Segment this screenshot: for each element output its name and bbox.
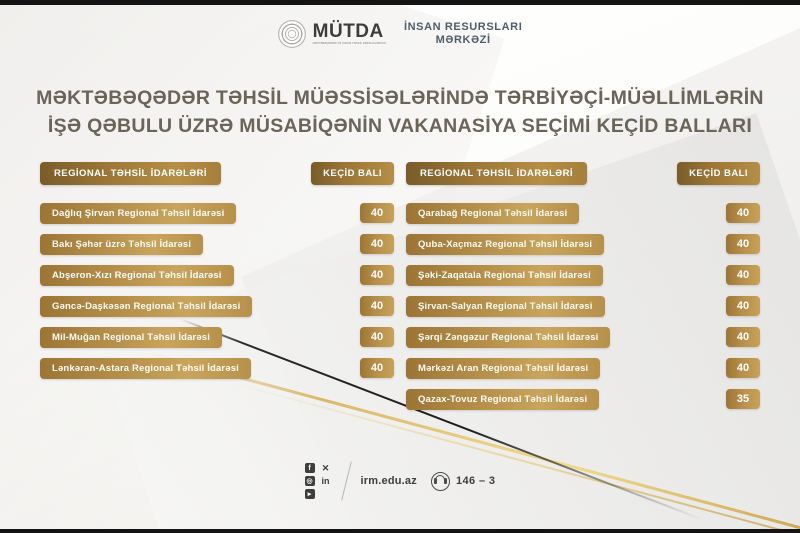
social-icons: f✕◎in▸ [305,463,332,500]
instagram-icon[interactable]: ◎ [305,476,315,486]
row-score-badge: 40 [726,358,760,378]
row-authority-name: Abşeron-Xızı Regional Təhsil İdarəsi [40,265,234,286]
headset-icon [431,472,450,491]
row-score-badge: 40 [360,296,394,316]
x-twitter-icon[interactable]: ✕ [321,463,331,473]
row-score-badge: 40 [726,265,760,285]
facebook-icon[interactable]: f [305,463,315,473]
row-authority-name: Mərkəzi Aran Regional Təhsil İdarəsi [406,358,600,379]
row-score-badge: 40 [726,296,760,316]
left-table-body: Dağlıq Şirvan Regional Təhsil İdarəsi40B… [40,202,394,379]
row-score-badge: 40 [360,327,394,347]
table-row: Qarabağ Regional Təhsil İdarəsi40 [406,202,760,224]
row-score-badge: 35 [726,389,760,409]
call-center-number: 146 – 3 [456,475,496,487]
top-letterbox-bar [0,0,800,5]
left-table-header-row: REGİONAL TƏHSİL İDARƏLƏRİ KEÇİD BALI [40,160,394,186]
bottom-letterbox-bar [0,529,800,533]
row-score-badge: 40 [726,234,760,254]
row-authority-name: Bakı Şəhər üzrə Təhsil İdarəsi [40,234,203,255]
table-row: Şərqi Zəngəzur Regional Təhsil İdarəsi40 [406,326,760,348]
row-score-badge: 40 [726,327,760,347]
footer-divider [341,461,352,500]
page-title-line2: İŞƏ QƏBULU ÜZRƏ MÜSABİQƏNİN VAKANASİYA S… [0,112,800,140]
row-score-badge: 40 [726,203,760,223]
mutda-logo-text: MÜTDA MƏKTƏBƏQƏDƏR VƏ ÜMUMİ TƏHSİL DƏRSL… [313,22,386,46]
mutda-logo-subtitle: MƏKTƏBƏQƏDƏR VƏ ÜMUMİ TƏHSİL DƏRSLİKLƏRİ… [313,43,386,46]
left-header-name: REGİONAL TƏHSİL İDARƏLƏRİ [40,162,221,185]
left-table: REGİONAL TƏHSİL İDARƏLƏRİ KEÇİD BALI Dağ… [40,160,394,419]
website-label[interactable]: irm.edu.az [361,475,417,487]
row-authority-name: Şirvan-Salyan Regional Təhsil İdarəsi [406,296,605,317]
row-authority-name: Şəki-Zaqatala Regional Təhsil İdarəsi [406,265,603,286]
table-row: Quba-Xaçmaz Regional Təhsil İdarəsi40 [406,233,760,255]
mutda-logo-name: MÜTDA [313,22,386,41]
poster-canvas: MÜTDA MƏKTƏBƏQƏDƏR VƏ ÜMUMİ TƏHSİL DƏRSL… [0,0,800,533]
right-table-body: Qarabağ Regional Təhsil İdarəsi40Quba-Xa… [406,202,760,410]
table-row: Mərkəzi Aran Regional Təhsil İdarəsi40 [406,357,760,379]
row-authority-name: Qazax-Tovuz Regional Təhsil İdarəsi [406,389,599,410]
row-authority-name: Lənkəran-Astara Regional Təhsil İdarəsi [40,358,251,379]
row-authority-name: Qarabağ Regional Təhsil İdarəsi [406,203,579,224]
page-title-line1: MƏKTƏBƏQƏDƏR TƏHSİL MÜƏSSİSƏLƏRİNDƏ TƏRB… [36,87,764,109]
page-title: MƏKTƏBƏQƏDƏR TƏHSİL MÜƏSSİSƏLƏRİNDƏ TƏRB… [0,84,800,141]
youtube-icon[interactable]: ▸ [305,489,315,499]
table-row: Gəncə-Daşkəsən Regional Təhsil İdarəsi40 [40,295,394,317]
table-row: Qazax-Tovuz Regional Təhsil İdarəsi35 [406,388,760,410]
mutda-logo: MÜTDA MƏKTƏBƏQƏDƏR VƏ ÜMUMİ TƏHSİL DƏRSL… [278,20,386,48]
row-authority-name: Şərqi Zəngəzur Regional Təhsil İdarəsi [406,327,610,348]
row-score-badge: 40 [360,265,394,285]
row-authority-name: Mil-Muğan Regional Təhsil İdarəsi [40,327,222,348]
table-row: Mil-Muğan Regional Təhsil İdarəsi40 [40,326,394,348]
right-table-header-row: REGİONAL TƏHSİL İDARƏLƏRİ KEÇİD BALI [406,160,760,186]
table-row: Şirvan-Salyan Regional Təhsil İdarəsi40 [406,295,760,317]
row-score-badge: 40 [360,234,394,254]
row-score-badge: 40 [360,203,394,223]
row-authority-name: Gəncə-Daşkəsən Regional Təhsil İdarəsi [40,296,252,317]
call-center-block: 146 – 3 [431,472,496,491]
right-table: REGİONAL TƏHSİL İDARƏLƏRİ KEÇİD BALI Qar… [406,160,760,419]
left-header-score: KEÇİD BALI [311,162,394,185]
table-row: Bakı Şəhər üzrə Təhsil İdarəsi40 [40,233,394,255]
right-header-name: REGİONAL TƏHSİL İDARƏLƏRİ [406,162,587,185]
table-row: Lənkəran-Astara Regional Təhsil İdarəsi4… [40,357,394,379]
tables-container: REGİONAL TƏHSİL İDARƏLƏRİ KEÇİD BALI Dağ… [0,160,800,419]
irm-logo: İNSAN RESURSLARI MƏRKƏZİ [404,21,522,46]
row-authority-name: Quba-Xaçmaz Regional Təhsil İdarəsi [406,234,604,255]
logo-bar: MÜTDA MƏKTƏBƏQƏDƏR VƏ ÜMUMİ TƏHSİL DƏRSL… [0,20,800,48]
linkedin-icon[interactable]: in [321,476,331,486]
headset-arc [435,475,445,481]
table-row: Abşeron-Xızı Regional Təhsil İdarəsi40 [40,264,394,286]
row-score-badge: 40 [360,358,394,378]
footer: f✕◎in▸ irm.edu.az 146 – 3 [0,461,800,501]
mandala-icon [278,20,306,48]
table-row: Dağlıq Şirvan Regional Təhsil İdarəsi40 [40,202,394,224]
row-authority-name: Dağlıq Şirvan Regional Təhsil İdarəsi [40,203,236,224]
irm-logo-line1: İNSAN RESURSLARI [404,21,522,33]
irm-logo-line2: MƏRKƏZİ [404,34,522,47]
right-header-score: KEÇİD BALI [677,162,760,185]
table-row: Şəki-Zaqatala Regional Təhsil İdarəsi40 [406,264,760,286]
